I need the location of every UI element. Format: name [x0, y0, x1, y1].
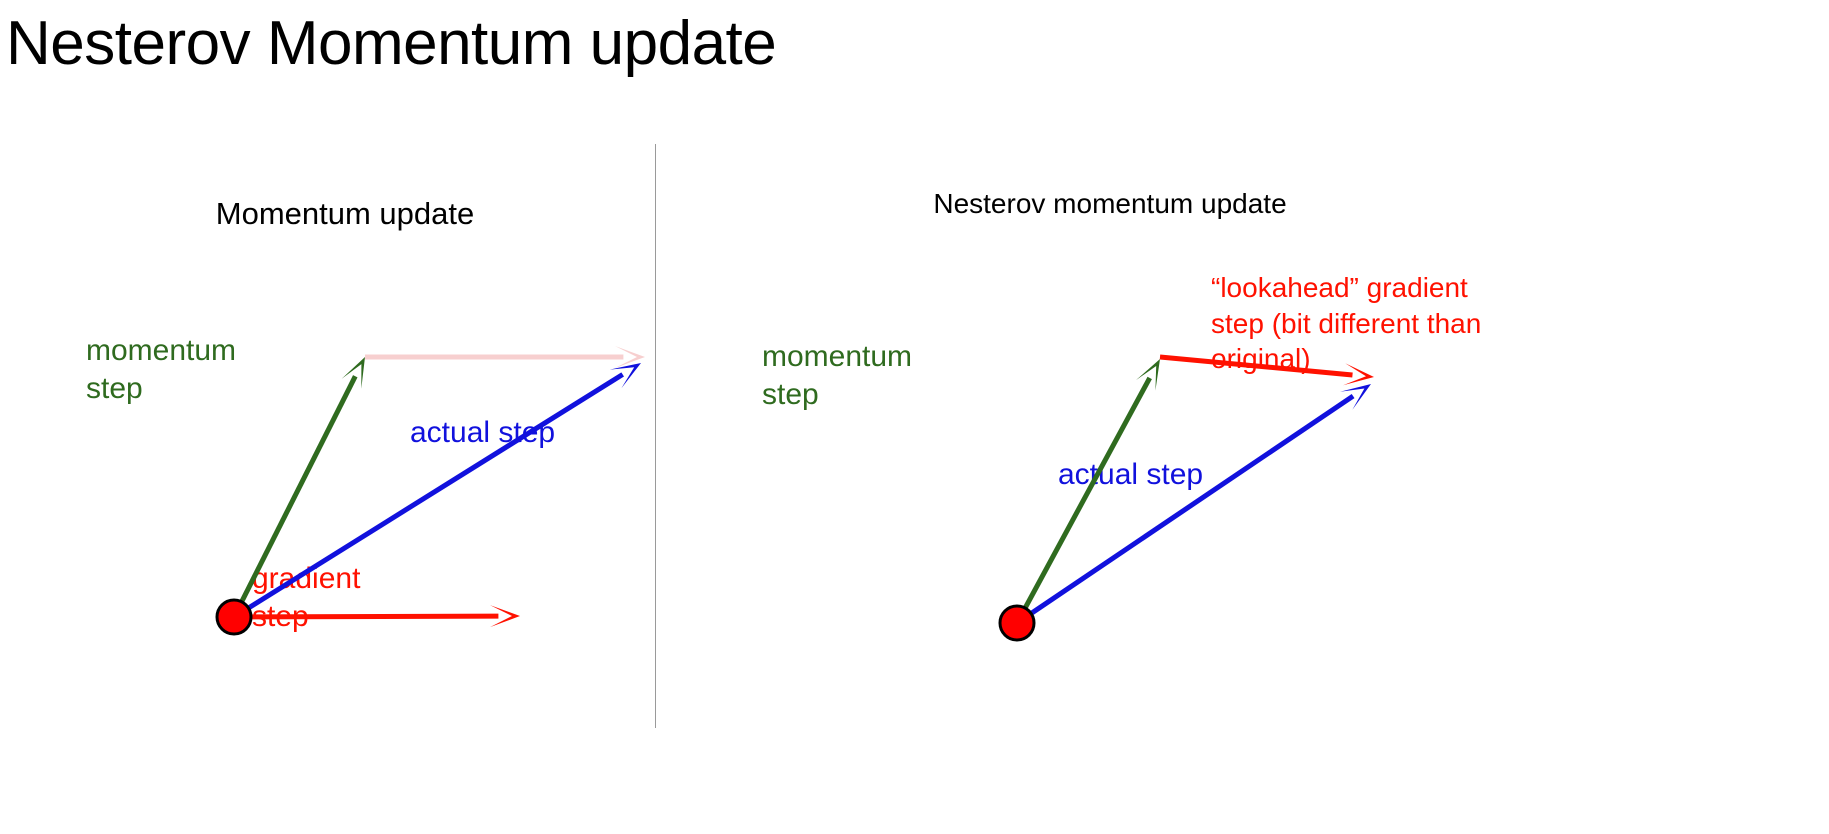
panel-divider — [655, 144, 656, 728]
left-gradient-step-label: gradient step — [252, 560, 360, 636]
left-panel-heading: Momentum update — [150, 196, 540, 232]
right-momentum-step-label: momentum step — [762, 338, 912, 414]
left-ghost-gradient-step-arrowhead — [615, 346, 645, 368]
vector-diagram — [0, 0, 1829, 834]
right-actual-step-arrowhead — [1340, 384, 1371, 410]
left-actual-step-arrowhead — [610, 363, 641, 388]
left-actual-step-label: actual step — [410, 414, 555, 452]
right-momentum-step-shaft — [1017, 378, 1150, 623]
left-momentum-step-label: momentum step — [86, 332, 236, 408]
left-gradient-step-arrowhead — [490, 605, 520, 627]
right-lookahead-gradient-label: “lookahead” gradient step (bit different… — [1211, 270, 1481, 377]
slide-canvas: Nesterov Momentum update Momentum update… — [0, 0, 1829, 834]
right-panel-heading: Nesterov momentum update — [880, 188, 1340, 220]
left-origin-dot — [217, 600, 251, 634]
page-title: Nesterov Momentum update — [6, 8, 776, 79]
left-momentum-step-arrowhead — [342, 357, 365, 389]
right-origin-dot — [1000, 606, 1034, 640]
right-momentum-step-arrowhead — [1136, 359, 1160, 391]
right-actual-step-label: actual step — [1058, 456, 1203, 494]
right-actual-step-shaft — [1017, 396, 1353, 623]
